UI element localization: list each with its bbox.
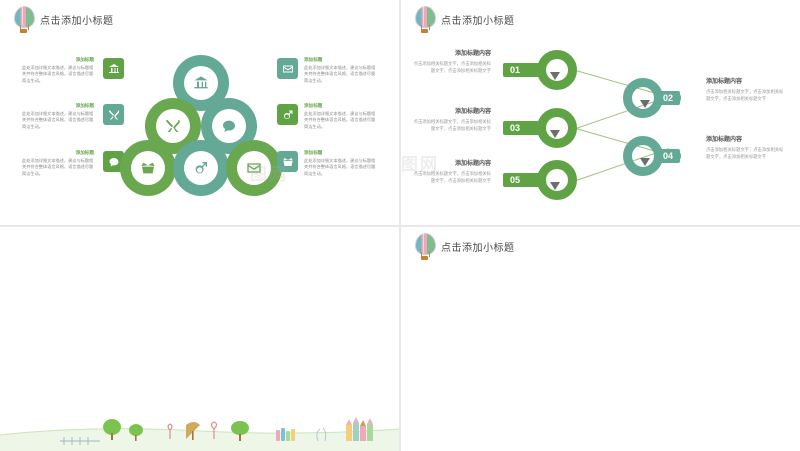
open-box-icon	[277, 151, 298, 172]
list-item[interactable]: 添加标题内容 点击添加相关标题文字，点击添加相关标题文字，点击添加相关标题文字	[706, 76, 784, 103]
pyramid-node[interactable]	[173, 140, 229, 196]
item-body: 此处添加详细文本描述，建议与标题相关并符合整体语言风格，语言描述尽量简洁生动。	[22, 158, 94, 178]
list-item[interactable]: 添加标题 此处添加详细文本描述，建议与标题相关并符合整体语言风格，语言描述尽量简…	[304, 57, 376, 84]
item-body: 点击添加相关标题文字，点击添加相关标题文字，点击添加相关标题文字	[706, 146, 784, 161]
hot-air-balloon-icon	[415, 6, 434, 33]
item-body: 点击添加相关标题文字，点击添加相关标题文字，点击添加相关标题文字	[706, 88, 784, 103]
item-body: 点击添加相关标题文字，点击添加相关标题文字，点击添加相关标题文字	[413, 170, 491, 185]
slide-1-pyramid-layout[interactable]: 点击添加小标题 添加标题 此处添加详细文本描述，建议与标题相关并符合整体语言风格…	[0, 0, 399, 225]
ground-illustration	[0, 411, 399, 451]
item-heading: 添加标题内容	[706, 76, 784, 85]
item-heading: 添加标题	[22, 57, 94, 63]
item-body: 此处添加详细文本描述，建议与标题相关并符合整体语言风格，语言描述尽量简洁生动。	[304, 158, 376, 178]
badge-number: 01	[503, 63, 527, 77]
slide-4-header: 点击添加小标题	[415, 233, 515, 260]
page-title: 点击添加小标题	[441, 12, 515, 27]
list-item[interactable]: 添加标题 此处添加详细文本描述，建议与标题相关并符合整体语言风格，语言描述尽量简…	[22, 57, 94, 84]
item-heading: 添加标题	[22, 103, 94, 109]
item-heading: 添加标题内容	[413, 48, 491, 57]
item-body: 点击添加相关标题文字，点击添加相关标题文字，点击添加相关标题文字	[413, 60, 491, 75]
open-box-icon	[131, 151, 165, 185]
tools-icon	[103, 104, 124, 125]
pyramid-diagram	[133, 55, 268, 185]
node-05[interactable]	[537, 160, 577, 200]
page-title: 点击添加小标题	[40, 12, 114, 27]
list-item[interactable]: 添加标题内容 点击添加相关标题文字，点击添加相关标题文字，点击添加相关标题文字	[413, 106, 491, 133]
pyramid-node[interactable]	[226, 140, 282, 196]
item-body: 点击添加相关标题文字，点击添加相关标题文字，点击添加相关标题文字	[413, 118, 491, 133]
slide-2-header: 点击添加小标题	[415, 6, 515, 33]
badge-number: 05	[503, 173, 527, 187]
item-heading: 添加标题	[22, 150, 94, 156]
list-item[interactable]: 添加标题 此处添加详细文本描述，建议与标题相关并符合整体语言风格，语言描述尽量简…	[22, 150, 94, 177]
item-heading: 添加标题内容	[413, 106, 491, 115]
male-symbol-icon	[277, 104, 298, 125]
node-03[interactable]	[537, 108, 577, 148]
item-body: 此处添加详细文本描述，建议与标题相关并符合整体语言风格，语言描述尽量简洁生动。	[304, 65, 376, 85]
list-item[interactable]: 添加标题内容 点击添加相关标题文字，点击添加相关标题文字，点击添加相关标题文字	[413, 158, 491, 185]
item-body: 此处添加详细文本描述，建议与标题相关并符合整体语言风格，语言描述尽量简洁生动。	[304, 111, 376, 131]
bank-icon	[184, 66, 218, 100]
pyramid-node[interactable]	[120, 140, 176, 196]
badge-number: 02	[656, 91, 680, 105]
item-heading: 添加标题	[304, 103, 376, 109]
tools-icon	[156, 109, 190, 143]
envelope-icon	[277, 58, 298, 79]
node-01[interactable]	[537, 50, 577, 90]
item-body: 此处添加详细文本描述，建议与标题相关并符合整体语言风格，语言描述尽量简洁生动。	[22, 111, 94, 131]
badge-number: 03	[503, 121, 527, 135]
badge-number: 04	[656, 149, 680, 163]
page-title: 点击添加小标题	[441, 239, 515, 254]
list-item[interactable]: 添加标题 此处添加详细文本描述，建议与标题相关并符合整体语言风格，语言描述尽量简…	[304, 103, 376, 130]
slide-thumbnail-grid: 点击添加小标题 添加标题 此处添加详细文本描述，建议与标题相关并符合整体语言风格…	[0, 0, 800, 451]
slide-3-section-divider[interactable]: 04 章节 PART 单击输入标题 添加相关标题文字 添加相关标题文字 添加相关…	[0, 227, 399, 451]
item-body: 此处添加详细文本描述，建议与标题相关并符合整体语言风格，语言描述尽量简洁生动。	[22, 65, 94, 85]
item-heading: 添加标题	[304, 150, 376, 156]
list-item[interactable]: 添加标题内容 点击添加相关标题文字，点击添加相关标题文字，点击添加相关标题文字	[706, 134, 784, 161]
hot-air-balloon-icon	[14, 6, 33, 33]
bank-icon	[103, 58, 124, 79]
list-item[interactable]: 添加标题 此处添加详细文本描述，建议与标题相关并符合整体语言风格，语言描述尽量简…	[22, 103, 94, 130]
hot-air-balloon-icon	[415, 233, 434, 260]
slide-4-wheel-diagram[interactable]: 点击添加小标题 01 02 03 04 点击输入简要文字内容，概括精炼	[401, 227, 800, 451]
item-heading: 添加标题内容	[706, 134, 784, 143]
slide-1-header: 点击添加小标题	[14, 6, 114, 33]
male-symbol-icon	[184, 151, 218, 185]
envelope-icon	[237, 151, 271, 185]
list-item[interactable]: 添加标题内容 点击添加相关标题文字，点击添加相关标题文字，点击添加相关标题文字	[413, 48, 491, 75]
list-item[interactable]: 添加标题 此处添加详细文本描述，建议与标题相关并符合整体语言风格，语言描述尽量简…	[304, 150, 376, 177]
item-heading: 添加标题内容	[413, 158, 491, 167]
item-heading: 添加标题	[304, 57, 376, 63]
speech-bubble-icon	[212, 109, 246, 143]
slide-2-funnel-links[interactable]: 点击添加小标题 01 添加标题内容 点击添加相关标题文字，点击添加相关标题文字，…	[401, 0, 800, 225]
